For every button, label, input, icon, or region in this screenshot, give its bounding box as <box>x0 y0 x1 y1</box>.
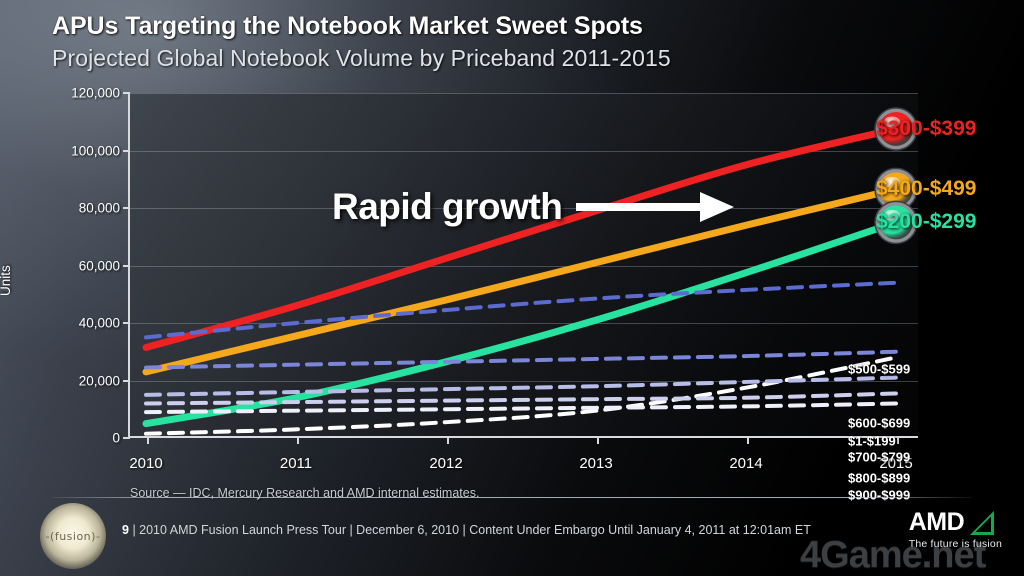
page-subtitle: Projected Global Notebook Volume by Pric… <box>52 45 952 72</box>
x-axis-tick-label: 2013 <box>579 455 612 472</box>
title-block: APUs Targeting the Notebook Market Sweet… <box>52 12 952 72</box>
series-end-label: $500-$599 <box>848 362 910 377</box>
chart-area: Units 020,00040,00060,00080,000100,00012… <box>0 86 1024 466</box>
series-end-label: $700-$799 <box>848 450 910 465</box>
series-line <box>146 352 896 368</box>
x-axis-tick-label: 2012 <box>429 455 462 472</box>
series-end-label: $900-$999 <box>848 488 910 503</box>
series-line <box>146 283 896 338</box>
page-number: 9 <box>122 523 129 537</box>
series-end-label: $400-$499 <box>876 177 976 201</box>
x-axis-tick-label: 2014 <box>729 455 762 472</box>
footer-detail: | 2010 AMD Fusion Launch Press Tour | De… <box>132 523 810 537</box>
series-end-label: $1-$199 <box>848 434 896 449</box>
series-line <box>146 129 896 348</box>
series-line <box>146 358 896 434</box>
callout-label: Rapid growth <box>332 186 562 228</box>
series-end-label: $200-$299 <box>876 210 976 234</box>
footer-text: 9 | 2010 AMD Fusion Launch Press Tour | … <box>122 523 811 537</box>
amd-brand-text: AMD <box>909 508 964 537</box>
slide-canvas: APUs Targeting the Notebook Market Sweet… <box>0 0 1024 576</box>
y-axis-tick-labels: 020,00040,00060,00080,000100,000120,000 <box>20 93 120 438</box>
callout-annotation: Rapid growth <box>332 186 736 228</box>
footer-divider <box>52 497 972 498</box>
x-axis-tick-label: 2010 <box>129 455 162 472</box>
x-axis-tick-label: 2011 <box>280 455 312 472</box>
fusion-badge-icon: -(fusion)- <box>40 503 106 569</box>
y-axis-tick-label: 100,000 <box>34 143 120 158</box>
right-arrow-icon <box>576 190 736 224</box>
series-end-label: $600-$699 <box>848 416 910 431</box>
page-title: APUs Targeting the Notebook Market Sweet… <box>52 12 952 41</box>
amd-wordmark: AMD <box>909 508 1002 537</box>
series-line <box>146 222 896 423</box>
y-axis-title: Units <box>0 265 13 296</box>
y-axis-tick-label: 0 <box>34 431 120 446</box>
amd-arrow-icon <box>968 511 994 535</box>
amd-logo: AMD The future is fusion <box>909 508 1002 550</box>
series-end-label: $800-$899 <box>848 471 910 486</box>
series-lines <box>128 93 918 438</box>
y-axis-tick-label: 40,000 <box>34 316 120 331</box>
series-end-label: $300-$399 <box>876 117 976 141</box>
y-axis-tick-label: 120,000 <box>34 86 120 101</box>
y-axis-tick-label: 80,000 <box>34 201 120 216</box>
y-axis-tick-label: 20,000 <box>34 373 120 388</box>
y-axis-tick-label: 60,000 <box>34 258 120 273</box>
fusion-badge-label: -(fusion)- <box>40 503 106 569</box>
series-line <box>146 378 896 395</box>
amd-tagline: The future is fusion <box>909 538 1002 550</box>
